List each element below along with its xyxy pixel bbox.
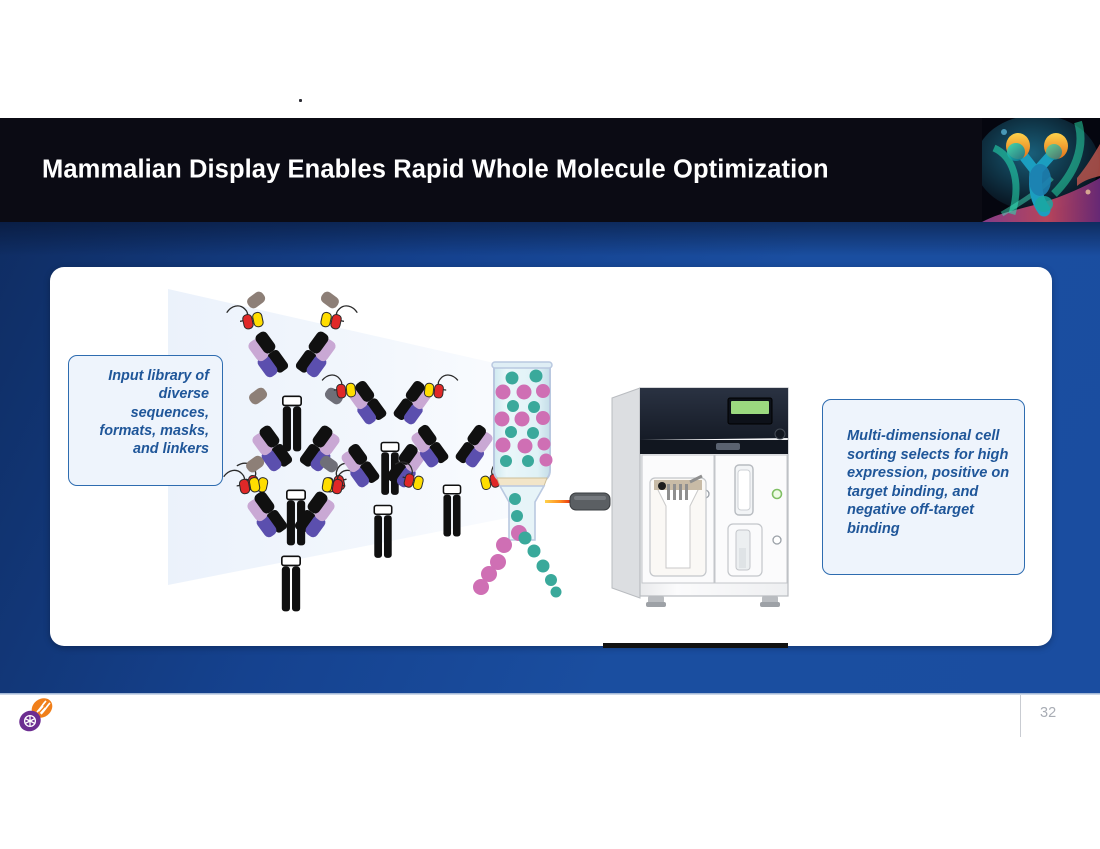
- dna-molecule-logo: [16, 696, 56, 734]
- slide-footer: [0, 693, 1100, 849]
- callout-input-library: Input library of diverse sequences, form…: [68, 355, 223, 486]
- cell-sorter-instrument: [612, 388, 788, 607]
- footer-divider-line: [0, 693, 1100, 695]
- page-number: 32: [1040, 705, 1080, 721]
- callout-input-library-text: Input library of diverse sequences, form…: [99, 368, 209, 457]
- cell-sample-tube: [492, 362, 553, 541]
- page-number-divider: [1020, 695, 1021, 737]
- laser-assembly: [545, 493, 610, 510]
- instrument-shadow-bar: [603, 643, 788, 648]
- callout-cell-sorting-text: Multi-dimensional cell sorting selects f…: [847, 428, 1009, 537]
- callout-cell-sorting: Multi-dimensional cell sorting selects f…: [822, 399, 1025, 575]
- slide: Mammalian Display Enables Rapid Whole Mo…: [0, 0, 1100, 760]
- antibody-group: [223, 290, 514, 612]
- sorted-droplets: [473, 532, 562, 598]
